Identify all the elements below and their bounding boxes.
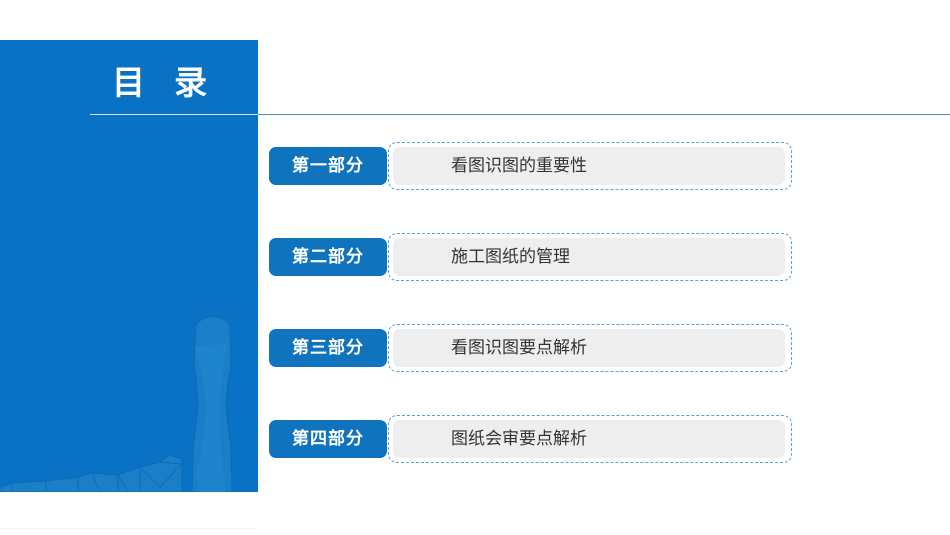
contents-row-3-badge[interactable]: 第三部分 — [268, 328, 388, 368]
contents-row-2[interactable]: 施工图纸的管理 第二部分 — [268, 233, 792, 281]
footer-hairline — [0, 528, 258, 529]
contents-row-4-label: 图纸会审要点解析 — [451, 415, 587, 463]
contents-row-3[interactable]: 看图识图要点解析 第三部分 — [268, 324, 792, 372]
contents-row-4[interactable]: 图纸会审要点解析 第四部分 — [268, 415, 792, 463]
slide-canvas: 目 录 看图识图的重要性 第一部分 施工图纸的管理 第二部分 看图识图要点解析 … — [0, 0, 950, 535]
contents-row-4-badge[interactable]: 第四部分 — [268, 419, 388, 459]
contents-row-1-badge[interactable]: 第一部分 — [268, 146, 388, 186]
contents-list: 看图识图的重要性 第一部分 施工图纸的管理 第二部分 看图识图要点解析 第三部分… — [0, 0, 950, 535]
contents-row-1[interactable]: 看图识图的重要性 第一部分 — [268, 142, 792, 190]
contents-row-1-label: 看图识图的重要性 — [451, 142, 587, 190]
contents-row-2-badge[interactable]: 第二部分 — [268, 237, 388, 277]
contents-row-2-label: 施工图纸的管理 — [451, 233, 570, 281]
contents-row-3-label: 看图识图要点解析 — [451, 324, 587, 372]
